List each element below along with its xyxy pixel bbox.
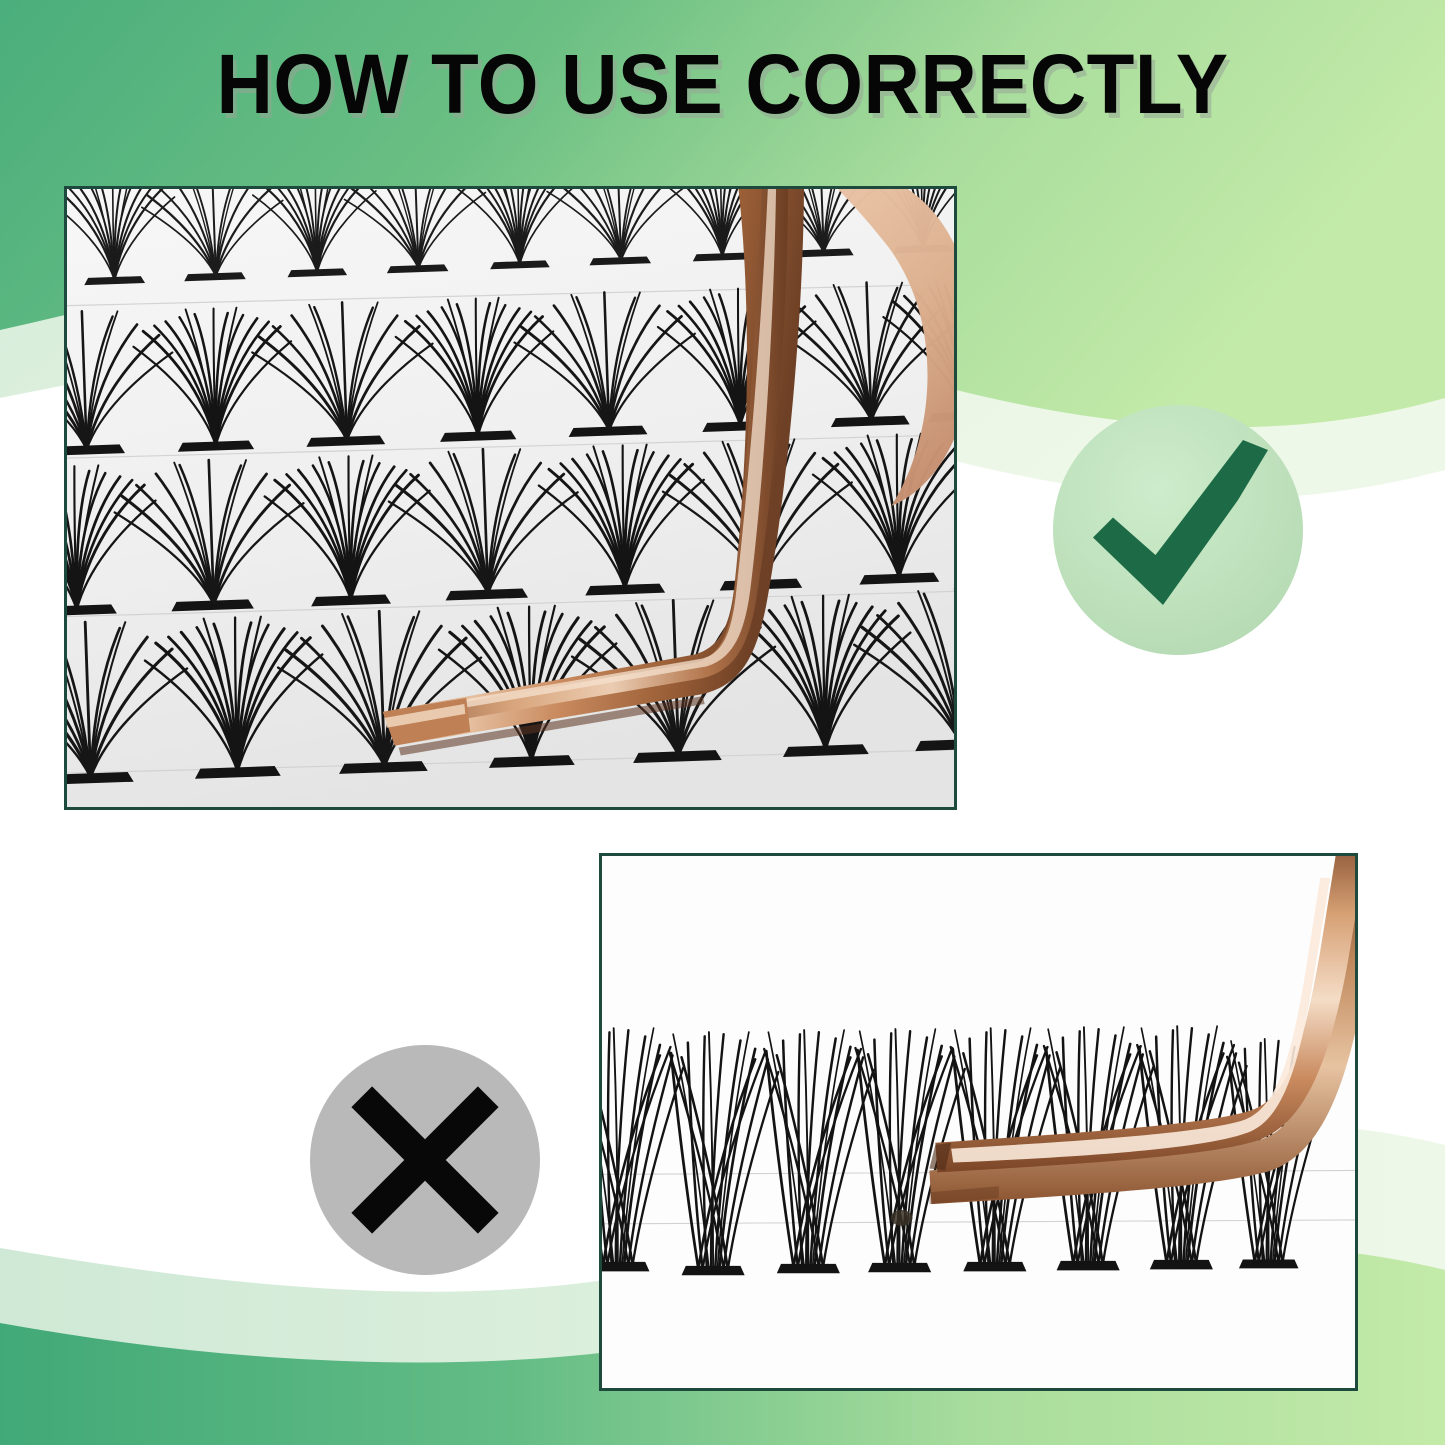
page-title: HOW TO USE CORRECTLY (51, 42, 1395, 126)
lash-tray-closeup-image (67, 189, 954, 807)
cross-badge (310, 1045, 540, 1275)
infographic-stage: HOW TO USE CORRECTLY (0, 0, 1445, 1445)
check-icon (1053, 405, 1303, 655)
incorrect-usage-photo (599, 853, 1358, 1391)
check-badge (1053, 405, 1303, 655)
correct-usage-photo (64, 186, 957, 810)
cross-icon (310, 1045, 540, 1275)
lash-side-view-image (602, 856, 1355, 1388)
